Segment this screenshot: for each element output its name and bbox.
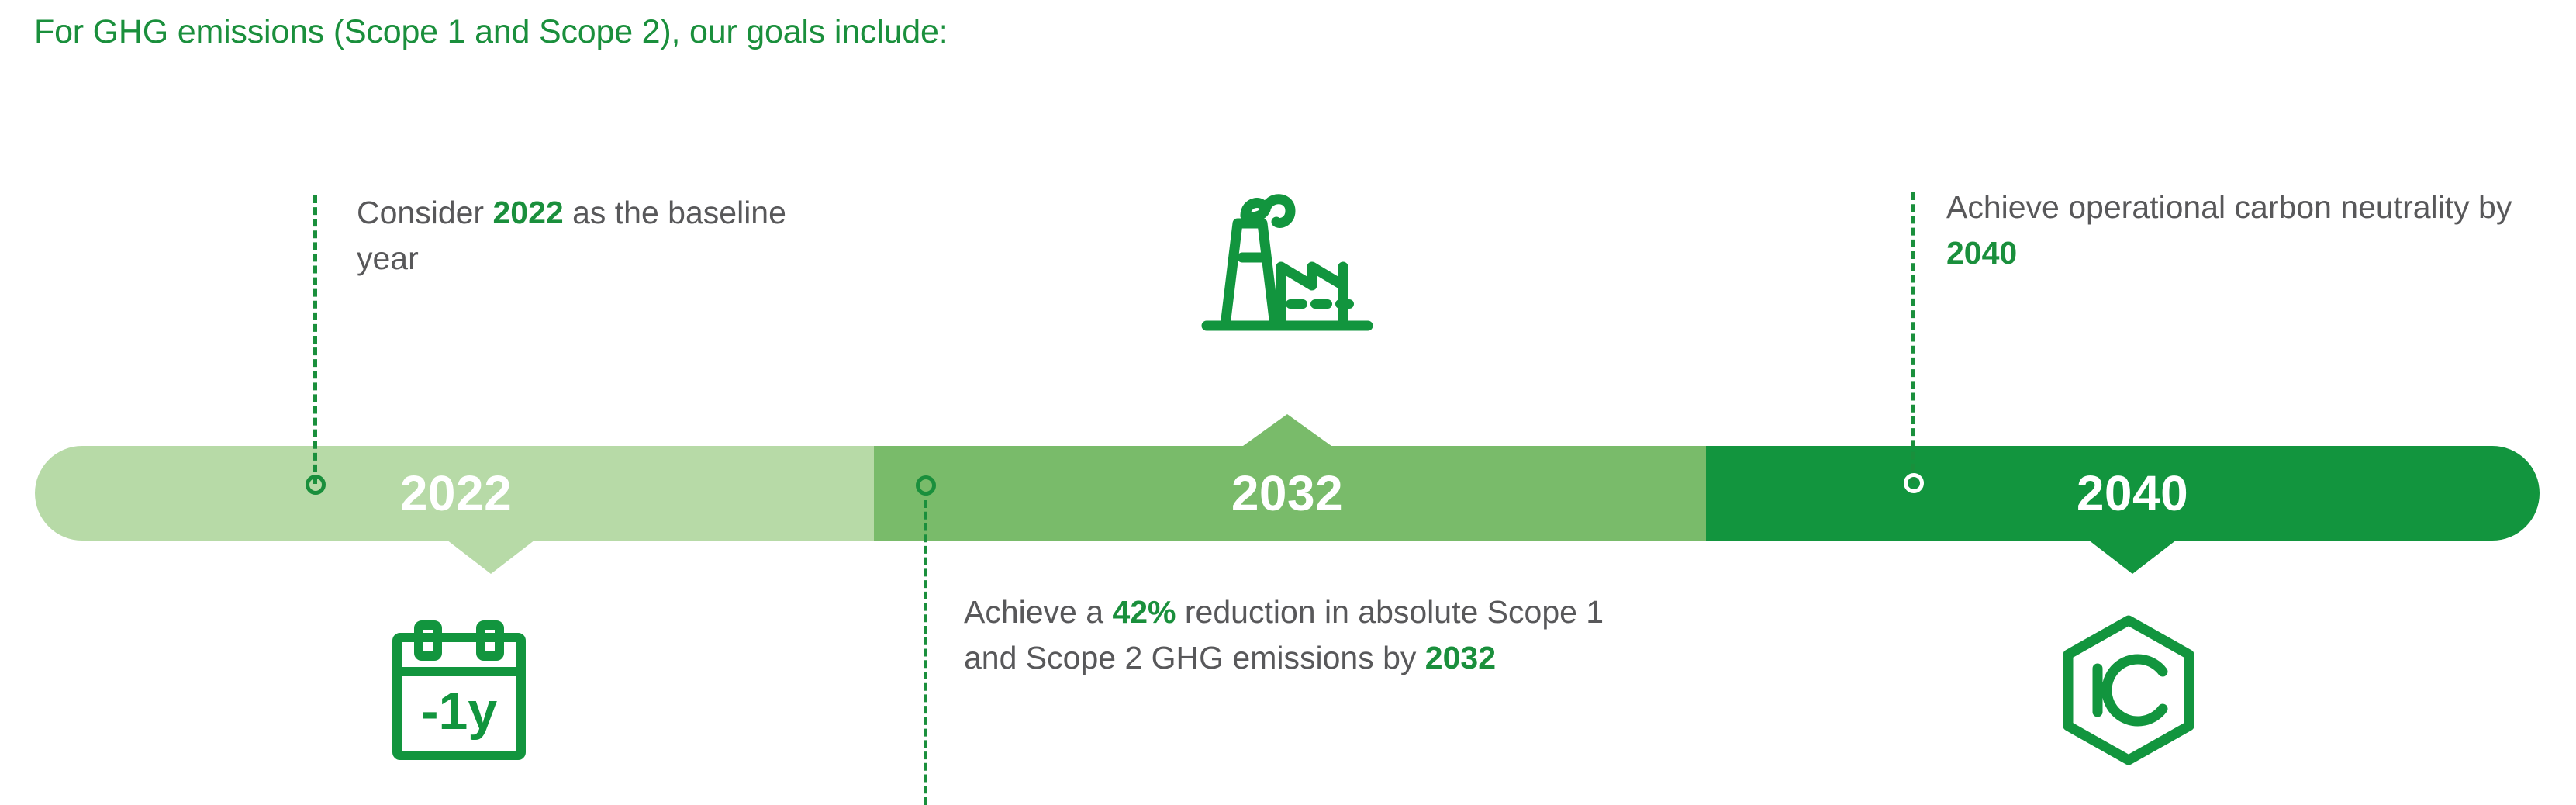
- notch-up-2032: [1243, 414, 1331, 446]
- callout-2032-highlight-pct: 42%: [1112, 594, 1176, 630]
- connector-dot-2040: [1904, 473, 1924, 493]
- callout-2040-text-a: Achieve operational carbon neutrality by: [1946, 189, 2512, 225]
- carbon-neutral-hexagon-icon: [2051, 613, 2206, 768]
- timeline-bar: 2022 2032 2040: [35, 446, 2540, 541]
- callout-2040-highlight: 2040: [1946, 235, 2017, 271]
- connector-dot-2032: [916, 475, 936, 496]
- callout-2022: Consider 2022 as the baseline year: [357, 190, 853, 282]
- notch-down-2040: [2088, 540, 2177, 574]
- connector-dot-2022: [306, 475, 326, 495]
- callout-2040: Achieve operational carbon neutrality by…: [1946, 185, 2536, 277]
- factory-emissions-icon: [1194, 177, 1380, 332]
- connector-line-2022: [313, 195, 317, 484]
- year-label-2022: 2022: [340, 446, 572, 541]
- callout-2032-text-a: Achieve a: [964, 594, 1112, 630]
- callout-2032-highlight-year: 2032: [1425, 640, 1496, 675]
- year-label-2040: 2040: [2016, 446, 2249, 541]
- callout-2032: Achieve a 42% reduction in absolute Scop…: [964, 589, 1631, 682]
- callout-2022-text-a: Consider: [357, 195, 492, 230]
- calendar-minus-one-year-icon: -1y: [382, 613, 537, 768]
- connector-line-2032: [924, 500, 927, 805]
- infographic-canvas: For GHG emissions (Scope 1 and Scope 2),…: [0, 0, 2576, 805]
- page-title: For GHG emissions (Scope 1 and Scope 2),…: [34, 13, 948, 51]
- callout-2022-highlight: 2022: [492, 195, 563, 230]
- year-label-2032: 2032: [1171, 446, 1404, 541]
- connector-line-2040: [1911, 192, 1915, 483]
- calendar-icon-label: -1y: [421, 682, 497, 741]
- notch-down-2022: [447, 540, 535, 574]
